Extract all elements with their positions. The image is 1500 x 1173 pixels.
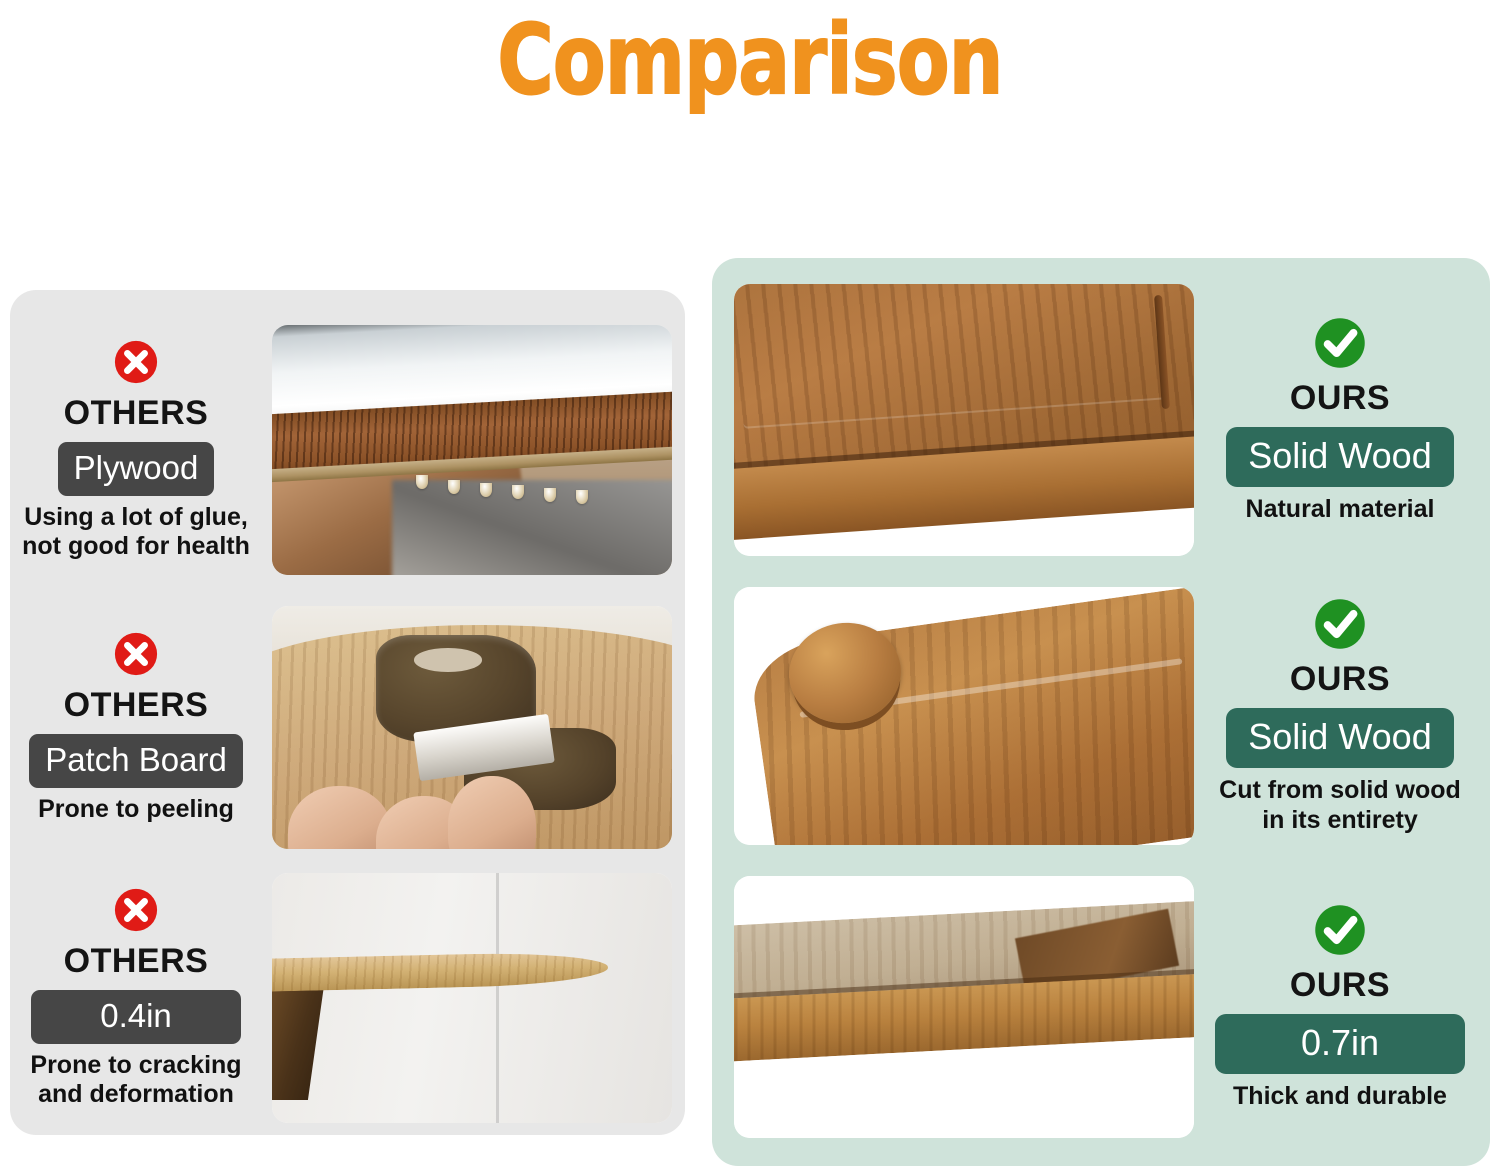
others-row-2: OTHERS Patch Board Prone to peeling bbox=[10, 600, 685, 855]
ours-row-1-labels: OURS Solid Wood Natural material bbox=[1194, 316, 1486, 524]
others-badge-thickness: 0.4in bbox=[31, 990, 241, 1044]
others-badge-patch-board: Patch Board bbox=[29, 734, 243, 788]
ours-badge-solid-wood: Solid Wood bbox=[1226, 708, 1453, 768]
page-title: Comparison bbox=[150, 8, 1350, 112]
plywood-table-edge-photo bbox=[272, 325, 672, 575]
ours-caption-2: Cut from solid wood in its entirety bbox=[1219, 775, 1461, 835]
ours-caption-3: Thick and durable bbox=[1233, 1081, 1447, 1111]
ours-badge-solid-wood: Solid Wood bbox=[1226, 427, 1453, 487]
ours-row-3: OURS 0.7in Thick and durable bbox=[712, 866, 1490, 1148]
cross-circle-icon bbox=[113, 631, 159, 677]
others-brand-label: OTHERS bbox=[64, 685, 209, 725]
ours-brand-label: OURS bbox=[1290, 659, 1390, 699]
others-panel: OTHERS Plywood Using a lot of glue, not … bbox=[10, 290, 685, 1135]
check-circle-icon bbox=[1313, 903, 1367, 957]
others-brand-label: OTHERS bbox=[64, 393, 209, 433]
ours-brand-label: OURS bbox=[1290, 965, 1390, 1005]
ours-row-1: OURS Solid Wood Natural material bbox=[712, 276, 1490, 564]
solid-wood-corner-well-photo bbox=[734, 587, 1194, 845]
others-row-3-labels: OTHERS 0.4in Prone to cracking and defor… bbox=[10, 887, 262, 1109]
others-caption-1: Using a lot of glue, not good for health bbox=[22, 503, 250, 561]
others-row-1-labels: OTHERS Plywood Using a lot of glue, not … bbox=[10, 339, 262, 561]
ours-badge-thickness: 0.7in bbox=[1215, 1014, 1465, 1074]
ours-panel: OURS Solid Wood Natural material bbox=[712, 258, 1490, 1166]
ours-row-2: OURS Solid Wood Cut from solid wood in i… bbox=[712, 580, 1490, 852]
check-circle-icon bbox=[1313, 597, 1367, 651]
patch-board-peeling-photo bbox=[272, 606, 672, 849]
others-row-3: OTHERS 0.4in Prone to cracking and defor… bbox=[10, 870, 685, 1125]
cross-circle-icon bbox=[113, 339, 159, 385]
thin-table-edge-photo bbox=[272, 873, 672, 1123]
others-row-2-labels: OTHERS Patch Board Prone to peeling bbox=[10, 631, 262, 824]
others-brand-label: OTHERS bbox=[64, 941, 209, 981]
ours-row-2-labels: OURS Solid Wood Cut from solid wood in i… bbox=[1194, 597, 1486, 835]
others-caption-3: Prone to cracking and deformation bbox=[30, 1051, 241, 1109]
others-badge-plywood: Plywood bbox=[58, 442, 215, 496]
ours-row-3-labels: OURS 0.7in Thick and durable bbox=[1194, 903, 1486, 1111]
solid-wood-board-corner-photo bbox=[734, 284, 1194, 556]
comparison-infographic: Comparison OTHERS Plywood Using a lot of… bbox=[0, 0, 1500, 1173]
thick-board-edge-photo bbox=[734, 876, 1194, 1138]
others-caption-2: Prone to peeling bbox=[38, 795, 234, 824]
others-row-1: OTHERS Plywood Using a lot of glue, not … bbox=[10, 310, 685, 590]
ours-caption-1: Natural material bbox=[1246, 494, 1435, 524]
ours-brand-label: OURS bbox=[1290, 378, 1390, 418]
cross-circle-icon bbox=[113, 887, 159, 933]
check-circle-icon bbox=[1313, 316, 1367, 370]
